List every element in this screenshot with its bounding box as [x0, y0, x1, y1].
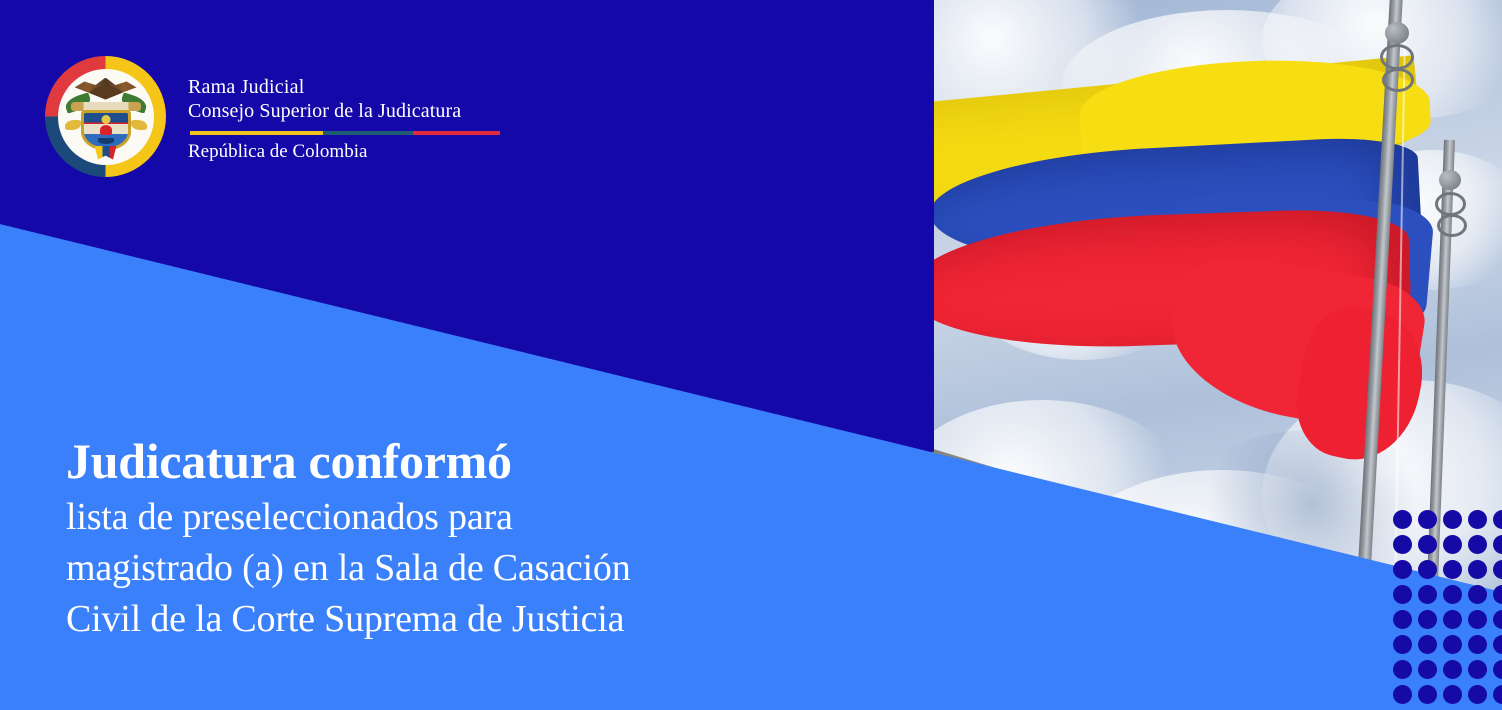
tricolor-yellow [190, 131, 323, 135]
tricolor-teal [323, 131, 413, 135]
grid-dot [1493, 560, 1502, 579]
headline-line-3: Civil de la Corte Suprema de Justicia [66, 594, 766, 645]
grid-dot [1443, 635, 1462, 654]
flagpole-ring [1435, 192, 1466, 216]
grid-dot [1393, 560, 1412, 579]
grid-dot [1443, 685, 1462, 704]
grid-dot [1443, 585, 1462, 604]
grid-dot [1443, 660, 1462, 679]
logo-line-consejo-superior: Consejo Superior de la Judicatura [188, 99, 500, 124]
logo-line-rama-judicial: Rama Judicial [188, 75, 500, 99]
headline-emphasis: Judicatura conformó [66, 430, 766, 492]
flag-tails [95, 146, 117, 160]
grid-dot [1468, 660, 1487, 679]
tricolor-rule [190, 131, 500, 135]
grid-dot [1468, 685, 1487, 704]
headline-block: Judicatura conformó lista de preseleccio… [66, 430, 766, 645]
grid-dot [1493, 585, 1502, 604]
grid-dot [1393, 685, 1412, 704]
judicial-news-banner: Rama Judicial Consejo Superior de la Jud… [0, 0, 1502, 710]
grid-dot [1418, 685, 1437, 704]
grid-dot [1418, 610, 1437, 629]
grid-dot [1468, 585, 1487, 604]
grid-dot [1393, 535, 1412, 554]
grid-dot [1393, 510, 1412, 529]
grid-dot [1418, 585, 1437, 604]
flagpole-finial [1385, 22, 1409, 44]
logo-wordmark: Rama Judicial Consejo Superior de la Jud… [188, 71, 500, 163]
grid-dot [1393, 660, 1412, 679]
grid-dot [1493, 685, 1502, 704]
grid-dot [1468, 610, 1487, 629]
grid-dot [1393, 610, 1412, 629]
colombia-coat-of-arms-seal-icon [45, 56, 166, 177]
grid-dot [1468, 535, 1487, 554]
headline-line-2: magistrado (a) en la Sala de Casación [66, 543, 766, 594]
grid-dot [1418, 560, 1437, 579]
dot-grid-decoration [1393, 510, 1502, 710]
flagpole-finial [1439, 170, 1461, 190]
grid-dot [1493, 610, 1502, 629]
grid-dot [1468, 635, 1487, 654]
shield [81, 110, 131, 150]
tricolor-red [413, 131, 500, 135]
grid-dot [1493, 535, 1502, 554]
grid-dot [1393, 635, 1412, 654]
flagpole-ring [1380, 44, 1414, 70]
grid-dot [1443, 610, 1462, 629]
flagpole-ring [1437, 214, 1467, 237]
flagpole-ring [1382, 68, 1414, 92]
headline-line-1: lista de preseleccionados para [66, 492, 766, 543]
rama-judicial-logo[interactable]: Rama Judicial Consejo Superior de la Jud… [45, 56, 500, 177]
grid-dot [1468, 560, 1487, 579]
grid-dot [1443, 535, 1462, 554]
colombian-flag [932, 55, 1440, 415]
grid-dot [1418, 510, 1437, 529]
cornucopia-right [131, 120, 147, 130]
grid-dot [1493, 510, 1502, 529]
grid-dot [1393, 585, 1412, 604]
grid-dot [1443, 560, 1462, 579]
grid-dot [1418, 535, 1437, 554]
grid-dot [1418, 660, 1437, 679]
grid-dot [1468, 510, 1487, 529]
grid-dot [1418, 635, 1437, 654]
cornucopia-left [65, 120, 81, 130]
grid-dot [1493, 660, 1502, 679]
logo-line-republica: República de Colombia [188, 141, 500, 163]
grid-dot [1443, 510, 1462, 529]
grid-dot [1493, 635, 1502, 654]
